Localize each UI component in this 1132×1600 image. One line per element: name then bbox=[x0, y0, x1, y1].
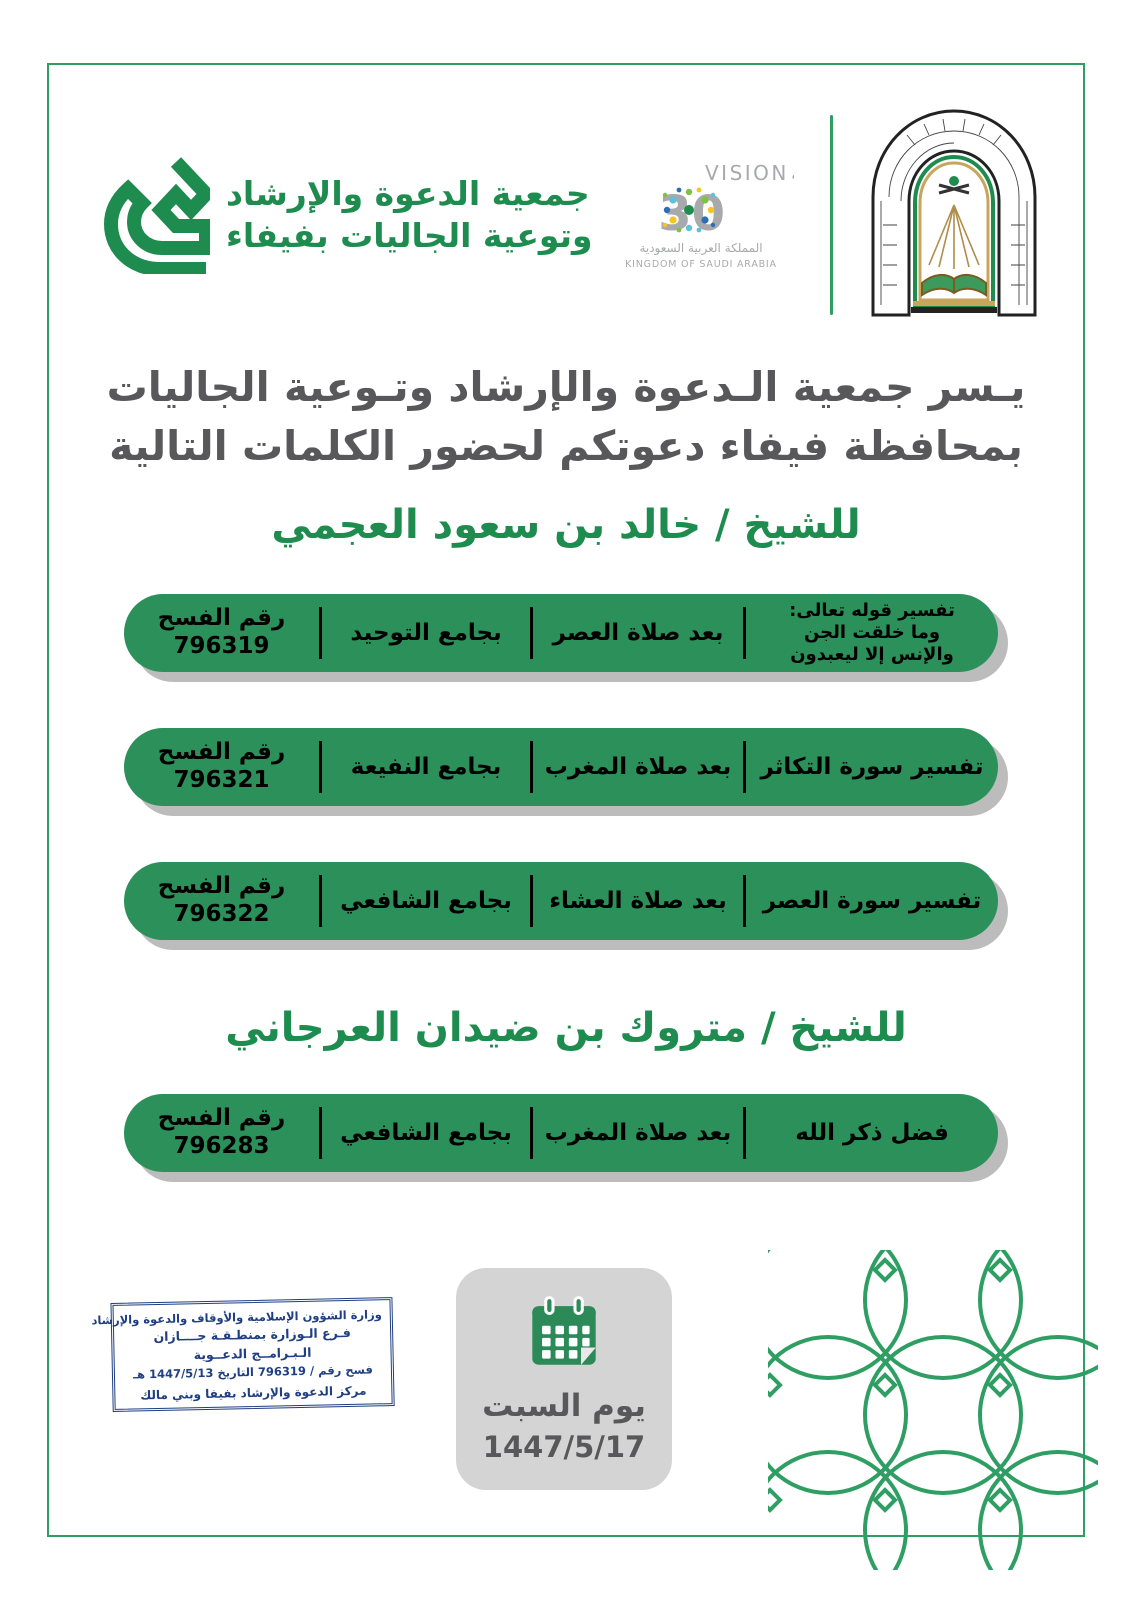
cell-separator bbox=[530, 607, 533, 659]
cell-separator bbox=[319, 875, 322, 927]
event-date-box: يوم السبت 1447/5/17 bbox=[456, 1268, 672, 1490]
speaker-name-2: للشيخ / متروك بن ضيدان العرجاني bbox=[70, 1005, 1062, 1051]
cell-separator bbox=[319, 607, 322, 659]
permit-number: 796322 bbox=[173, 901, 269, 929]
cell-separator bbox=[319, 741, 322, 793]
lecture-time: بعد صلاة المغرب bbox=[533, 1094, 743, 1172]
lecture-row[interactable]: تفسير قوله تعالى: وما خلقت الجن والإنس إ… bbox=[124, 594, 1008, 682]
lecture-permit: رقم الفسح 796321 bbox=[124, 728, 319, 806]
geometric-pattern-icon bbox=[768, 1250, 1098, 1570]
cell-separator bbox=[743, 607, 746, 659]
event-date-value: 1447/5/17 bbox=[483, 1430, 645, 1464]
vision-2030-logo: رؤيـــة VISION 2 30 bbox=[606, 158, 796, 273]
permit-label: رقم الفسح bbox=[158, 873, 285, 901]
lecture-topic: تفسير سورة العصر bbox=[746, 862, 998, 940]
permit-number: 796321 bbox=[173, 767, 269, 795]
header-divider bbox=[830, 115, 833, 315]
lecture-row-pill: تفسير سورة العصر بعد صلاة العشاء بجامع ا… bbox=[124, 862, 998, 940]
lecture-row-pill: تفسير سورة التكاثر بعد صلاة المغرب بجامع… bbox=[124, 728, 998, 806]
lecture-row-pill: فضل ذكر الله بعد صلاة المغرب بجامع الشاف… bbox=[124, 1094, 998, 1172]
association-name-line1: جمعية الدعوة والإرشاد bbox=[226, 173, 590, 215]
lecture-topic: تفسير قوله تعالى: وما خلقت الجن والإنس إ… bbox=[746, 594, 998, 672]
association-logo: جمعية الدعوة والإرشاد وتوعية الجاليات بف… bbox=[90, 156, 593, 274]
svg-text:المملكة العربية السعودية: المملكة العربية السعودية bbox=[639, 241, 762, 256]
lecture-time: بعد صلاة العشاء bbox=[533, 862, 743, 940]
lecture-time: بعد صلاة العصر bbox=[533, 594, 743, 672]
cell-separator bbox=[319, 1107, 322, 1159]
poster-root: جمعية الدعوة والإرشاد وتوعية الجاليات بف… bbox=[0, 0, 1132, 1600]
cell-separator bbox=[743, 875, 746, 927]
calendar-icon bbox=[525, 1294, 603, 1372]
speaker-name-1: للشيخ / خالد بن سعود العجمي bbox=[70, 502, 1062, 548]
lecture-place: بجامع الشافعي bbox=[322, 1094, 530, 1172]
lecture-row-pill: تفسير قوله تعالى: وما خلقت الجن والإنس إ… bbox=[124, 594, 998, 672]
svg-text:KINGDOM OF SAUDI ARABIA: KINGDOM OF SAUDI ARABIA bbox=[625, 259, 777, 270]
stamp-box: وزارة الشؤون الإسلامية والأوقاف والدعوة … bbox=[110, 1297, 394, 1412]
event-day-label: يوم السبت bbox=[482, 1388, 646, 1424]
poster-header: جمعية الدعوة والإرشاد وتوعية الجاليات بف… bbox=[90, 100, 1042, 330]
lecture-row[interactable]: تفسير سورة التكاثر بعد صلاة المغرب بجامع… bbox=[124, 728, 1008, 816]
lecture-place: بجامع التوحيد bbox=[322, 594, 530, 672]
permit-label: رقم الفسح bbox=[158, 605, 285, 633]
lecture-topic: فضل ذكر الله bbox=[746, 1094, 998, 1172]
official-stamp: وزارة الشؤون الإسلامية والأوقاف والدعوة … bbox=[110, 1297, 395, 1453]
ministry-emblem-icon bbox=[867, 105, 1042, 325]
permit-number: 796319 bbox=[173, 633, 269, 661]
vision-2030-icon: رؤيـــة VISION 2 30 bbox=[609, 158, 794, 273]
islamic-pattern-ornament bbox=[768, 1250, 1098, 1570]
association-mark-icon bbox=[90, 156, 210, 274]
lecture-time: بعد صلاة المغرب bbox=[533, 728, 743, 806]
stamp-line-5: مركز الدعوة والإرشاد بفيفا وبني مالك bbox=[123, 1381, 383, 1404]
lecture-row[interactable]: فضل ذكر الله بعد صلاة المغرب بجامع الشاف… bbox=[124, 1094, 1008, 1182]
permit-label: رقم الفسح bbox=[158, 1105, 285, 1133]
headline-line-2: بمحافظة فيفاء دعوتكم لحضور الكلمات التال… bbox=[70, 417, 1062, 476]
cell-separator bbox=[530, 741, 533, 793]
lecture-permit: رقم الفسح 796322 bbox=[124, 862, 319, 940]
svg-text:رؤيـــة: رؤيـــة bbox=[791, 161, 794, 185]
svg-text:2: 2 bbox=[609, 186, 613, 242]
cell-separator bbox=[530, 875, 533, 927]
lecture-place: بجامع الشافعي bbox=[322, 862, 530, 940]
page-title: يـسر جمعية الـدعوة والإرشاد وتـوعية الجا… bbox=[70, 358, 1062, 477]
headline-line-1: يـسر جمعية الـدعوة والإرشاد وتـوعية الجا… bbox=[70, 358, 1062, 417]
permit-number: 796283 bbox=[173, 1133, 269, 1161]
lecture-permit: رقم الفسح 796283 bbox=[124, 1094, 319, 1172]
lecture-row[interactable]: تفسير سورة العصر بعد صلاة العشاء بجامع ا… bbox=[124, 862, 1008, 950]
lecture-place: بجامع النفيعة bbox=[322, 728, 530, 806]
cell-separator bbox=[530, 1107, 533, 1159]
association-name-line2: وتوعية الجاليات بفيفاء bbox=[226, 215, 593, 257]
lecture-permit: رقم الفسح 796319 bbox=[124, 594, 319, 672]
cell-separator bbox=[743, 741, 746, 793]
lecture-topic: تفسير سورة التكاثر bbox=[746, 728, 998, 806]
svg-text:VISION: VISION bbox=[705, 161, 789, 185]
cell-separator bbox=[743, 1107, 746, 1159]
permit-label: رقم الفسح bbox=[158, 739, 285, 767]
association-name: جمعية الدعوة والإرشاد وتوعية الجاليات بف… bbox=[226, 173, 593, 257]
